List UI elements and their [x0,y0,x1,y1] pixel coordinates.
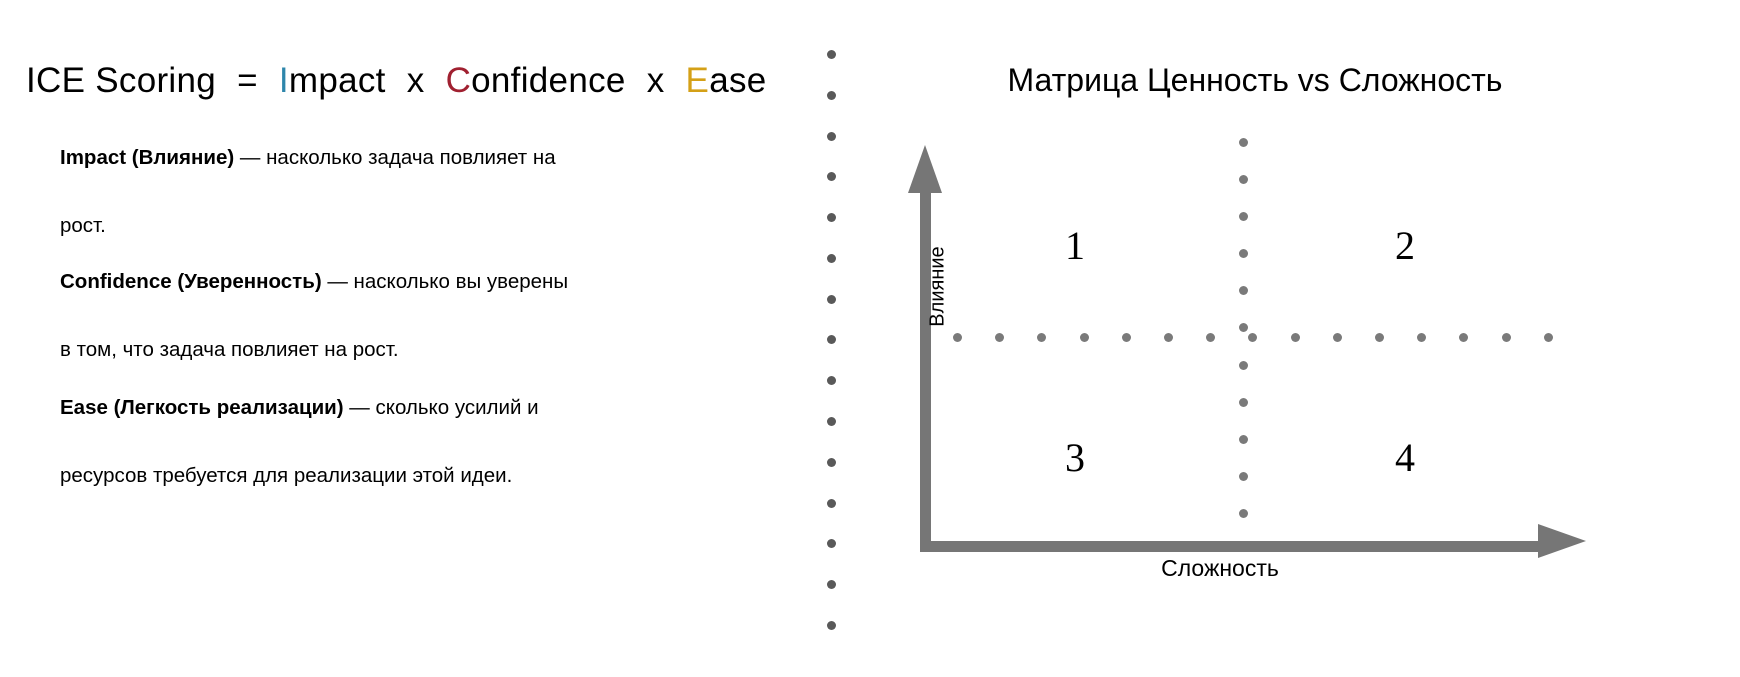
ice-formula-heading: ICE Scoring = Impact x Confidence x Ease [26,62,767,101]
ice-scoring-panel: ICE Scoring = Impact x Confidence x Ease… [0,0,820,677]
description-ease-term: Ease (Легкость реализации) [60,396,344,419]
slide-canvas: ICE Scoring = Impact x Confidence x Ease… [0,0,1740,677]
grid-dot [1239,212,1248,221]
grid-dot [1239,138,1248,147]
x-axis-label: Сложность [1085,555,1355,582]
grid-dot [1122,333,1131,342]
grid-dot [1206,333,1215,342]
grid-dot [1239,472,1248,481]
grid-dot [1239,398,1248,407]
formula-prefix: ICE Scoring [26,61,216,100]
y-axis-arrowhead-icon [908,145,942,193]
quadrant-label-4: 4 [1385,434,1425,481]
grid-dot [1417,333,1426,342]
impact-initial: I [279,61,289,100]
divider-dot [827,213,836,222]
horizontal-quadrant-divider [953,332,1553,343]
grid-dot [1375,333,1384,342]
grid-dot [1239,361,1248,370]
y-axis-label: Влияние [927,217,950,357]
divider-dot [827,254,836,263]
ease-rest: ase [709,61,766,100]
confidence-initial: C [446,61,472,100]
divider-dot [827,172,836,181]
grid-dot [1239,175,1248,184]
x-axis-arrowhead-icon [1538,524,1586,558]
description-impact-term: Impact (Влияние) [60,146,234,169]
grid-dot [1544,333,1553,342]
divider-dot [827,499,836,508]
description-ease-line-2: ресурсов требуется для реализации этой и… [60,466,760,534]
divider-dot [827,417,836,426]
description-impact-line-1: Impact (Влияние) — насколько задача повл… [60,148,760,216]
grid-dot [1459,333,1468,342]
x-axis-line [920,541,1544,552]
grid-dot [1239,249,1248,258]
description-confidence: Confidence (Уверенность) — насколько вы … [60,272,760,408]
impact-rest: mpact [289,61,386,100]
grid-dot [995,333,1004,342]
description-confidence-line-1: Confidence (Уверенность) — насколько вы … [60,272,760,340]
grid-dot [1333,333,1342,342]
description-ease-text-1: — сколько усилий и [344,396,539,419]
formula-times-1: x [407,61,425,100]
grid-dot [1037,333,1046,342]
confidence-rest: onfidence [471,61,626,100]
formula-times-2: x [647,61,665,100]
divider-dot [827,132,836,141]
grid-dot [1239,509,1248,518]
description-confidence-term: Confidence (Уверенность) [60,270,322,293]
quadrant-label-1: 1 [1055,222,1095,269]
value-complexity-matrix-panel: Матрица Ценность vs Сложность Влияние Сл… [840,0,1740,677]
divider-dot [827,539,836,548]
grid-dot [1502,333,1511,342]
grid-dot [1239,435,1248,444]
divider-dot [827,50,836,59]
grid-dot [1291,333,1300,342]
matrix-title: Матрица Ценность vs Сложность [840,62,1670,99]
divider-dot [827,376,836,385]
formula-equals: = [237,61,258,100]
grid-dot [953,333,962,342]
description-ease: Ease (Легкость реализации) — сколько уси… [60,398,760,534]
description-confidence-text-1: — насколько вы уверены [322,270,568,293]
description-impact-text-1: — насколько задача повлияет на [234,146,555,169]
quadrant-label-3: 3 [1055,434,1095,481]
divider-dot [827,295,836,304]
vertical-quadrant-divider [1238,138,1249,518]
divider-dot [827,621,836,630]
grid-dot [1239,286,1248,295]
divider-dot [827,91,836,100]
description-impact: Impact (Влияние) — насколько задача повл… [60,148,760,284]
vertical-dotted-divider [824,50,838,630]
divider-dot [827,580,836,589]
grid-dot [1248,333,1257,342]
description-ease-line-1: Ease (Легкость реализации) — сколько уси… [60,398,760,466]
divider-dot [827,335,836,344]
grid-dot [1164,333,1173,342]
quadrant-label-2: 2 [1385,222,1425,269]
ease-initial: E [686,61,710,100]
divider-dot [827,458,836,467]
grid-dot [1080,333,1089,342]
